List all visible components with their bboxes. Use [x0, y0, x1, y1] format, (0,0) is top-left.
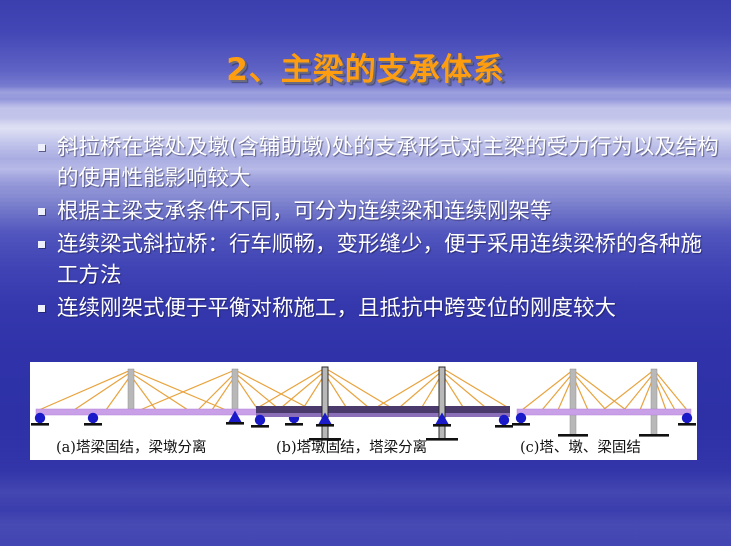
cables-c-right: [603, 370, 687, 410]
tower-c-2: [651, 369, 657, 435]
footing-c-2: [639, 434, 669, 437]
diagram-c: [512, 369, 696, 437]
bullet-list: 斜拉桥在塔处及墩(含辅助墩)处的支承形式对主梁的受力行为以及结构的使用性能影响较…: [30, 132, 720, 326]
bullet-square-icon: [38, 305, 45, 312]
figure-caption-a: (a)塔梁固结，梁墩分离: [56, 436, 206, 457]
bullet-text: 斜拉桥在塔处及墩(含辅助墩)处的支承形式对主梁的受力行为以及结构的使用性能影响较…: [57, 132, 720, 194]
tower-a-2: [232, 369, 238, 413]
bullet-text: 根据主梁支承条件不同，可分为连续梁和连续刚架等: [57, 196, 552, 227]
list-item: 连续梁式斜拉桥：行车顺畅，变形缝少，便于采用连续梁桥的各种施工方法: [30, 229, 720, 291]
bullet-square-icon: [38, 241, 45, 248]
bullet-square-icon: [38, 144, 45, 151]
deck-b-upper: [256, 406, 510, 413]
tower-b-2: [439, 367, 445, 439]
diagram-a: [31, 369, 322, 426]
list-item: 斜拉桥在塔处及墩(含辅助墩)处的支承形式对主梁的受力行为以及结构的使用性能影响较…: [30, 132, 720, 194]
tower-b-1: [322, 367, 328, 439]
tower-c-1: [570, 369, 576, 435]
bullet-text: 连续梁式斜拉桥：行车顺畅，变形缝少，便于采用连续梁桥的各种施工方法: [57, 229, 720, 291]
slide-canvas: 2、主梁的支承体系 斜拉桥在塔处及墩(含辅助墩)处的支承形式对主梁的受力行为以及…: [0, 0, 731, 546]
page-title: 2、主梁的支承体系: [0, 44, 731, 89]
bullet-text: 连续刚架式便于平衡对称施工，且抵抗中跨变位的刚度较大: [57, 293, 616, 324]
bullet-square-icon: [38, 208, 45, 215]
footing-b-2: [426, 438, 458, 441]
deck-b-lower: [256, 413, 510, 417]
list-item: 连续刚架式便于平衡对称施工，且抵抗中跨变位的刚度较大: [30, 293, 720, 324]
deck-c: [517, 409, 691, 415]
figure-caption-c: (c)塔、墩、梁固结: [520, 436, 641, 457]
diagram-b: [251, 367, 513, 441]
figure-caption-b: (b)塔墩固结，塔梁分离: [276, 436, 427, 457]
tower-a-1: [128, 369, 134, 413]
bridge-support-systems-figure: (a)塔梁固结，梁墩分离 (b)塔墩固结，塔梁分离 (c)塔、墩、梁固结: [30, 362, 697, 460]
list-item: 根据主梁支承条件不同，可分为连续梁和连续刚架等: [30, 196, 720, 227]
